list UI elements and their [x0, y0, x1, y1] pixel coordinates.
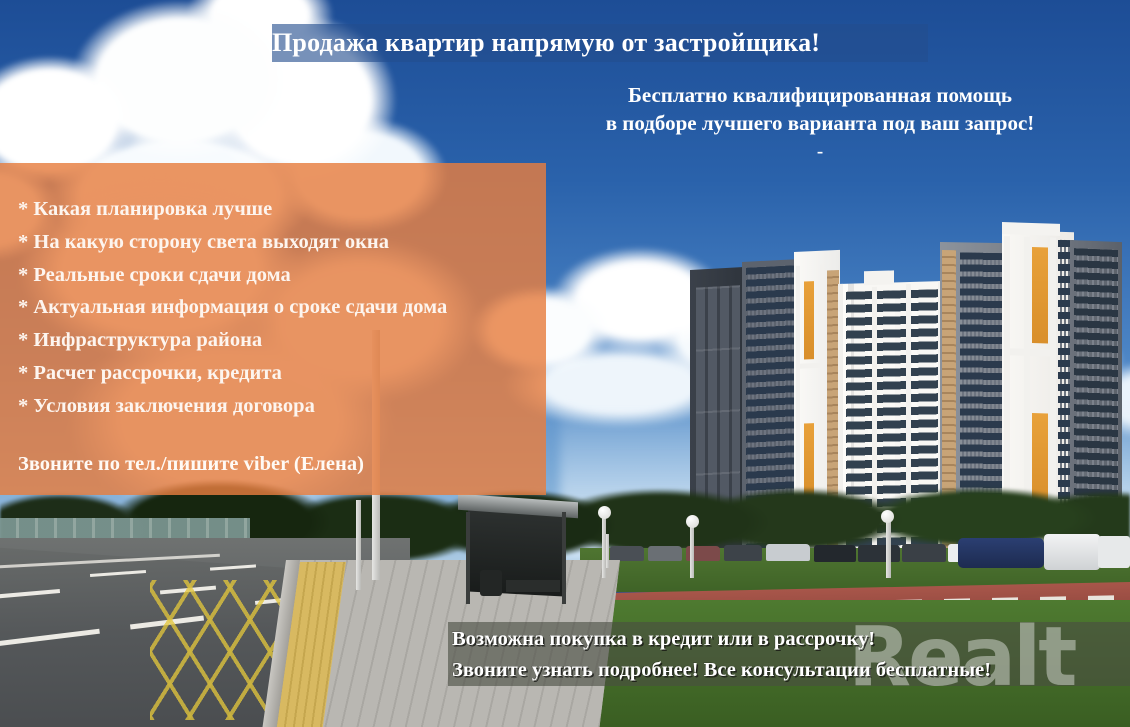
street-lamp-head [598, 506, 611, 519]
list-item: * Какая планировка лучше [18, 193, 546, 226]
list-item: * На какую сторону света выходят окна [18, 226, 546, 259]
subheading-line-1: Бесплатно квалифицированная помощь [560, 82, 1080, 110]
white-frame [1004, 348, 1056, 357]
parked-car [902, 544, 946, 562]
blue-van [958, 538, 1044, 568]
page-title: Продажа квартир напрямую от застройщика! [272, 24, 932, 62]
street-lamp-post [690, 524, 694, 578]
contact-line: Звоните по тел./пишите viber (Елена) [18, 453, 546, 476]
parked-car [648, 546, 682, 561]
footer-text: Возможна покупка в кредит или в рассрочк… [452, 624, 1130, 686]
shelter-post [562, 512, 566, 604]
street-lamp-post [356, 500, 361, 590]
list-item: * Инфраструктура района [18, 324, 546, 357]
shelter-post [466, 512, 470, 604]
street-lamp-head [881, 510, 894, 523]
parked-car [766, 544, 810, 561]
subheading-block: Бесплатно квалифицированная помощь в под… [560, 82, 1080, 166]
bench [506, 580, 560, 592]
footer-line-2: Звоните узнать подробнее! Все консультац… [452, 655, 1130, 686]
parked-car [814, 545, 856, 562]
benefits-panel: * Какая планировка лучше * На какую стор… [0, 163, 546, 495]
list-item: * Условия заключения договора [18, 390, 546, 423]
subheading-line-3: - [560, 138, 1080, 167]
benefits-list: * Какая планировка лучше * На какую стор… [18, 193, 546, 423]
street-lamp-post [886, 520, 891, 578]
trash-bin [480, 570, 502, 596]
roof-parapet [1002, 222, 1060, 236]
street-lamp-head [686, 515, 699, 528]
parked-car [724, 545, 762, 561]
white-truck [1098, 536, 1130, 568]
orange-accent-stripe [804, 281, 814, 359]
orange-accent-stripe [1032, 247, 1048, 344]
parked-car [858, 545, 900, 562]
street-lamp-post [606, 534, 609, 568]
bus-shelter [458, 498, 578, 608]
list-item: * Актуальная информация о сроке сдачи до… [18, 291, 546, 324]
white-van [1044, 534, 1100, 570]
roof-box [864, 270, 894, 285]
advertisement-image: Продажа квартир напрямую от застройщика!… [0, 0, 1130, 727]
parked-car [610, 546, 644, 561]
subheading-line-2: в подборе лучшего варианта под ваш запро… [560, 110, 1080, 138]
footer-line-1: Возможна покупка в кредит или в рассрочк… [452, 624, 1130, 655]
list-item: * Реальные сроки сдачи дома [18, 259, 546, 292]
list-item: * Расчет рассрочки, кредита [18, 357, 546, 390]
